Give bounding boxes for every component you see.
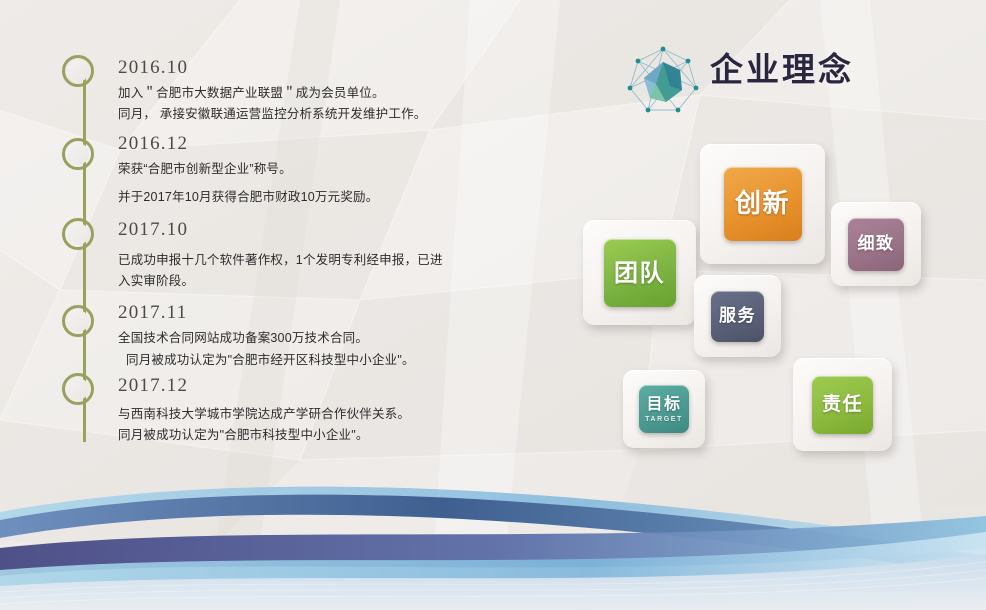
event-detail-line: 同月被成功认定为"合肥市经开区科技型中小企业"。: [118, 351, 478, 370]
card-tile: 服务: [711, 291, 764, 342]
philosophy-card-service[interactable]: 服务: [694, 275, 781, 357]
event-date: 2016.12: [118, 134, 478, 153]
event-date: 2016.10: [118, 58, 478, 77]
timeline-marker: [62, 305, 94, 337]
event-detail-line: 同月被成功认定为"合肥市科技型中小企业"。: [118, 426, 478, 445]
card-tile: 责任: [812, 376, 873, 434]
philosophy-cards-group: 团队 创新 细致 服务 目标 TARGET: [565, 130, 985, 470]
slide-canvas: 2016.10 加入＂合肥市大数据产业联盟＂成为会员单位。 同月， 承接安徽联通…: [0, 0, 986, 610]
event-detail-line: 已成功申报十几个软件著作权，1个发明专利经申报，已进: [118, 251, 478, 270]
philosophy-card-meticulous[interactable]: 细致: [831, 202, 921, 286]
card-label: 责任: [822, 395, 863, 414]
timeline-event: 2017.12 与西南科技大学城市学院达成产学研合作伙伴关系。 同月被成功认定为…: [118, 376, 478, 446]
event-date: 2017.11: [118, 303, 478, 322]
timeline-events-list: 2016.10 加入＂合肥市大数据产业联盟＂成为会员单位。 同月， 承接安徽联通…: [118, 58, 478, 452]
timeline-marker: [62, 55, 94, 87]
philosophy-card-target[interactable]: 目标 TARGET: [623, 370, 705, 448]
card-tile: 细致: [848, 218, 904, 271]
card-sublabel: TARGET: [645, 416, 683, 423]
card-tile: 团队: [604, 239, 676, 307]
timeline-marker: [62, 218, 94, 250]
card-label: 创新: [735, 191, 790, 217]
timeline-event: 2017.11 全国技术合同网站成功备案300万技术合同。 同月被成功认定为"合…: [118, 303, 478, 370]
timeline-event: 2017.10 已成功申报十几个软件著作权，1个发明专利经申报，已进 入实审阶段…: [118, 220, 478, 292]
timeline-rail: [62, 55, 108, 445]
section-header: 企业理念: [622, 44, 952, 106]
philosophy-card-responsibility[interactable]: 责任: [793, 358, 892, 451]
polyhedron-gem-icon: [622, 44, 704, 120]
event-detail-line: 并于2017年10月获得合肥市财政10万元奖励。: [118, 188, 478, 207]
card-label: 团队: [614, 261, 665, 285]
timeline-marker: [62, 373, 94, 405]
page-title: 企业理念: [710, 52, 854, 88]
event-detail-line: 全国技术合同网站成功备案300万技术合同。: [118, 329, 478, 348]
philosophy-card-team[interactable]: 团队: [583, 220, 696, 325]
timeline-event: 2016.10 加入＂合肥市大数据产业联盟＂成为会员单位。 同月， 承接安徽联通…: [118, 58, 478, 125]
timeline-event: 2016.12 荣获“合肥市创新型企业”称号。 并于2017年10月获得合肥市财…: [118, 134, 478, 208]
event-detail-line: 同月， 承接安徽联通运营监控分析系统开发维护工作。: [118, 105, 478, 124]
event-detail-line: 荣获“合肥市创新型企业”称号。: [118, 160, 478, 179]
timeline-marker: [62, 138, 94, 170]
event-date: 2017.12: [118, 376, 478, 395]
event-detail-line: 与西南科技大学城市学院达成产学研合作伙伴关系。: [118, 405, 478, 424]
event-detail-line: 加入＂合肥市大数据产业联盟＂成为会员单位。: [118, 84, 478, 103]
card-label: 服务: [719, 308, 756, 325]
card-tile: 目标 TARGET: [639, 385, 689, 433]
event-detail-line: 入实审阶段。: [118, 272, 478, 291]
philosophy-card-innovation[interactable]: 创新: [700, 144, 825, 264]
card-tile: 创新: [724, 167, 802, 241]
event-date: 2017.10: [118, 220, 478, 239]
card-label: 目标: [646, 396, 681, 412]
card-label: 细致: [858, 236, 895, 253]
